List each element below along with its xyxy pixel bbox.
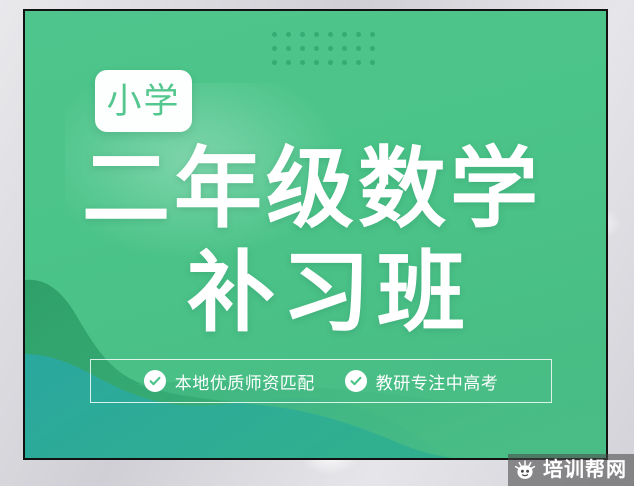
grid-dot: [342, 60, 347, 65]
level-tag: 小学: [95, 70, 192, 132]
grid-dot: [272, 32, 277, 37]
grid-dot: [300, 60, 305, 65]
watermark-text: 培训帮网: [543, 460, 627, 480]
feature-label-1: 本地优质师资匹配: [175, 369, 315, 394]
feature-item-2: 教研专注中高考: [345, 369, 499, 394]
grid-dot: [370, 32, 375, 37]
grid-dot: [328, 32, 333, 37]
grid-dot: [370, 60, 375, 65]
grid-dot: [370, 46, 375, 51]
grid-dot: [314, 46, 319, 51]
grid-dot: [356, 60, 361, 65]
dot-grid-ornament: [272, 32, 382, 72]
headline-line-1: 二年级数学: [82, 145, 542, 233]
feature-item-1: 本地优质师资匹配: [144, 369, 315, 394]
grid-dot: [356, 46, 361, 51]
grid-dot: [286, 60, 291, 65]
grid-dot: [356, 32, 361, 37]
grid-dot: [300, 46, 305, 51]
grid-dot: [286, 46, 291, 51]
headline-line-2: 补习班: [187, 249, 472, 337]
check-circle-icon: [144, 370, 166, 392]
feature-label-2: 教研专注中高考: [376, 369, 499, 394]
promo-card: 小学 二年级数学 补习班 本地优质师资匹配 教研专注中: [23, 9, 608, 460]
watermark: 培训帮网: [508, 454, 634, 486]
feature-strip: 本地优质师资匹配 教研专注中高考: [90, 359, 552, 403]
grid-dot: [342, 32, 347, 37]
page-background: 小学 二年级数学 补习班 本地优质师资匹配 教研专注中: [0, 0, 634, 486]
sun-face-icon: [514, 460, 536, 480]
grid-dot: [314, 32, 319, 37]
grid-dot: [300, 32, 305, 37]
level-tag-label: 小学: [106, 84, 180, 119]
grid-dot: [272, 46, 277, 51]
grid-dot: [342, 46, 347, 51]
grid-dot: [314, 60, 319, 65]
grid-dot: [272, 60, 277, 65]
grid-dot: [328, 60, 333, 65]
grid-dot: [286, 32, 291, 37]
grid-dot: [328, 46, 333, 51]
check-circle-icon: [345, 370, 367, 392]
